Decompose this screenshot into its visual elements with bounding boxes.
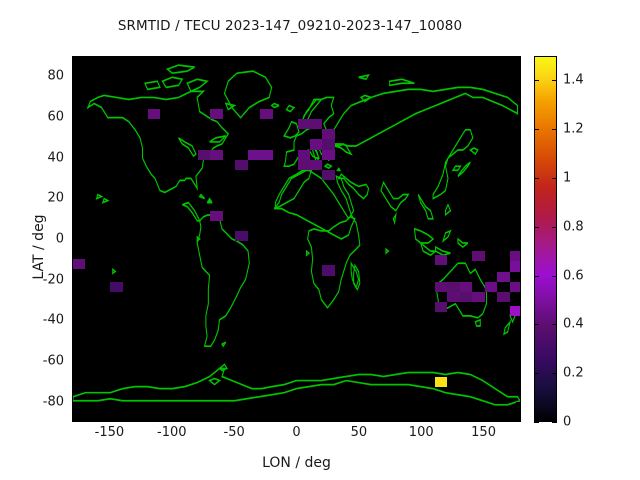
y-axis-title: LAT / deg — [31, 182, 47, 312]
colorbar-tick-mark — [534, 276, 539, 277]
chart-root: SRMTID / TECU 2023-147_09210-2023-147_10… — [0, 0, 640, 480]
x-axis-title: LON / deg — [72, 455, 521, 471]
colorbar-tick-mark — [534, 178, 539, 179]
colorbar-tick-label: 0.2 — [563, 366, 584, 381]
colorbar-tick-label: 0 — [563, 415, 571, 430]
colorbar-tick-mark — [534, 129, 539, 130]
x-tick-label: 150 — [471, 425, 496, 440]
colorbar-tick-mark — [552, 178, 557, 179]
colorbar-tick-mark — [552, 373, 557, 374]
colorbar-tick-label: 0.4 — [563, 317, 584, 332]
x-tick-label: 100 — [409, 425, 434, 440]
colorbar-tick-mark — [552, 80, 557, 81]
colorbar-tick-mark — [552, 422, 557, 423]
colorbar-tick-mark — [552, 129, 557, 130]
colorbar-tick-mark — [534, 227, 539, 228]
x-tick-label: 50 — [351, 425, 368, 440]
colorbar-tick-mark — [534, 373, 539, 374]
x-tick-label: -150 — [95, 425, 125, 440]
colorbar-tick-label: 1.4 — [563, 73, 584, 88]
colorbar — [534, 56, 557, 422]
colorbar-tick-label: 1.2 — [563, 122, 584, 137]
colorbar-tick-mark — [534, 422, 539, 423]
colorbar-tick-mark — [552, 276, 557, 277]
x-tick-label: -100 — [157, 425, 187, 440]
colorbar-tick-label: 0.6 — [563, 268, 584, 283]
colorbar-tick-mark — [534, 80, 539, 81]
x-tick-label: -50 — [224, 425, 245, 440]
colorbar-tick-mark — [552, 227, 557, 228]
x-tick-label: 0 — [292, 425, 300, 440]
colorbar-tick-label: 1 — [563, 171, 571, 186]
colorbar-tick-mark — [534, 324, 539, 325]
colorbar-tick-label: 0.8 — [563, 219, 584, 234]
colorbar-tick-mark — [552, 324, 557, 325]
